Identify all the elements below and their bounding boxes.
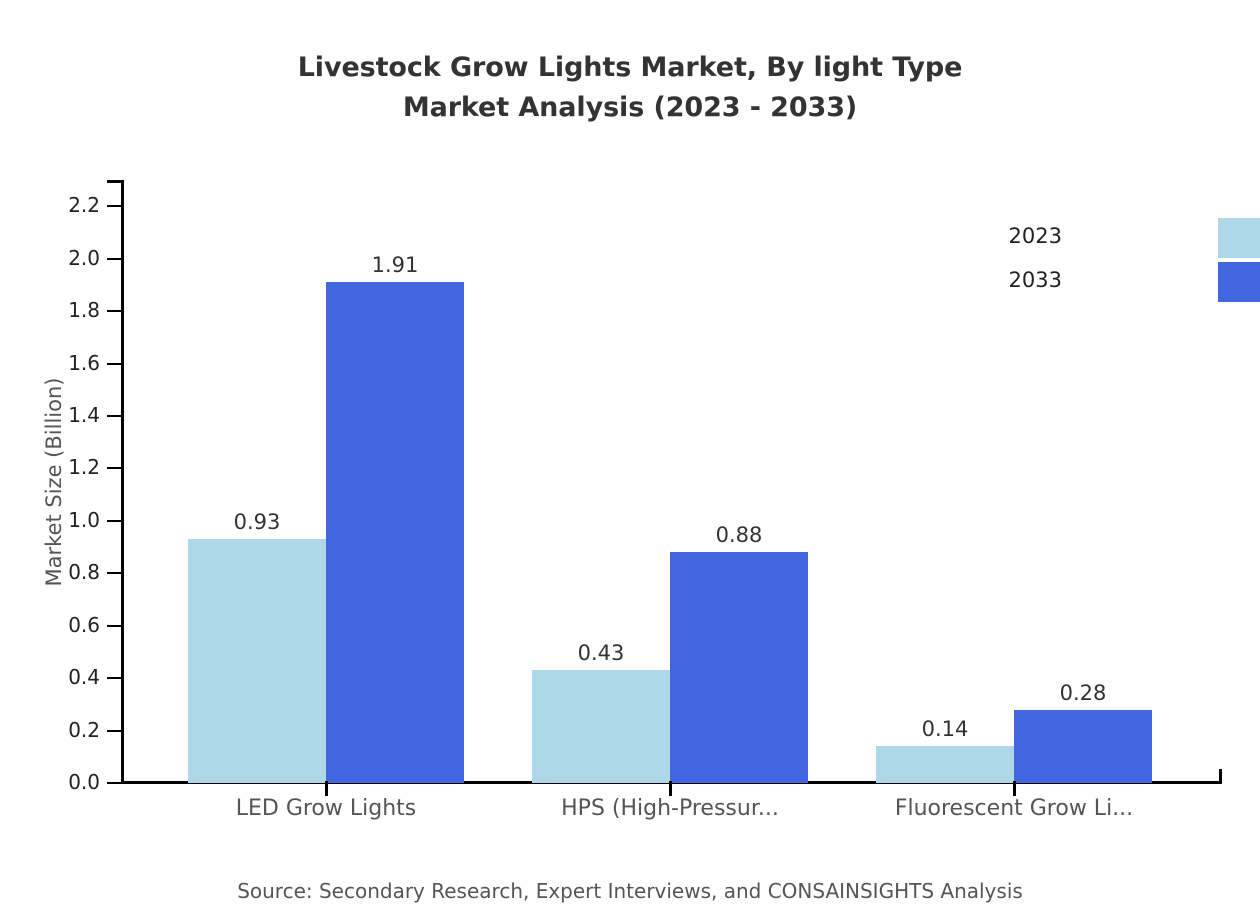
bar[interactable] <box>532 670 670 783</box>
chart-title-line2: Market Analysis (2023 - 2033) <box>0 88 1260 128</box>
y-axis-line <box>121 180 124 784</box>
x-tick-mark <box>669 781 672 796</box>
legend-label-2023: 2023 <box>952 224 1062 248</box>
bar[interactable] <box>326 282 464 783</box>
y-tick-mark <box>107 310 124 312</box>
y-tick-label: 2.2 <box>20 195 100 215</box>
x-tick-label: Fluorescent Grow Li... <box>834 795 1194 823</box>
y-tick-label: 0.2 <box>20 720 100 740</box>
x-axis-right-cap <box>1219 769 1222 784</box>
chart-title: Livestock Grow Lights Market, By light T… <box>0 48 1260 128</box>
bar-value-label: 0.93 <box>177 510 337 534</box>
bar-value-label: 0.14 <box>865 717 1025 741</box>
y-tick-label: 0.6 <box>20 615 100 635</box>
y-tick-mark <box>107 415 124 417</box>
y-tick-mark <box>107 730 124 732</box>
y-tick-label: 1.6 <box>20 353 100 373</box>
y-tick-mark <box>107 467 124 469</box>
bar-value-label: 1.91 <box>315 253 475 277</box>
x-tick-label: LED Grow Lights <box>146 795 506 823</box>
bar-value-label: 0.88 <box>659 523 819 547</box>
y-tick-label: 0.0 <box>20 772 100 792</box>
bar-chart: Livestock Grow Lights Market, By light T… <box>0 0 1260 920</box>
y-tick-label: 1.4 <box>20 405 100 425</box>
legend-label-2033: 2033 <box>952 268 1062 292</box>
y-tick-label: 1.0 <box>20 510 100 530</box>
source-note: Source: Secondary Research, Expert Inter… <box>0 877 1260 905</box>
y-tick-label: 0.4 <box>20 667 100 687</box>
y-tick-label: 1.2 <box>20 457 100 477</box>
y-tick-mark <box>107 677 124 679</box>
x-tick-mark <box>1013 781 1016 796</box>
bar[interactable] <box>1014 710 1152 783</box>
x-tick-mark <box>325 781 328 796</box>
bar-value-label: 0.28 <box>1003 681 1163 705</box>
y-tick-mark <box>107 205 124 207</box>
chart-title-line1: Livestock Grow Lights Market, By light T… <box>298 52 963 83</box>
y-tick-mark <box>107 572 124 574</box>
bar[interactable] <box>876 746 1014 783</box>
y-tick-mark <box>107 258 124 260</box>
y-tick-mark <box>107 363 124 365</box>
bar[interactable] <box>188 539 326 783</box>
x-tick-label: HPS (High-Pressur... <box>490 795 850 823</box>
bar[interactable] <box>670 552 808 783</box>
y-tick-mark <box>107 625 124 627</box>
y-tick-mark <box>107 520 124 522</box>
y-tick-mark <box>107 782 124 784</box>
y-axis-top-cap <box>107 180 124 183</box>
y-tick-label: 1.8 <box>20 300 100 320</box>
y-tick-label: 2.0 <box>20 248 100 268</box>
y-tick-label: 0.8 <box>20 562 100 582</box>
legend-swatch-2033 <box>1218 262 1260 302</box>
legend-swatch-2023 <box>1218 218 1260 258</box>
bar-value-label: 0.43 <box>521 641 681 665</box>
